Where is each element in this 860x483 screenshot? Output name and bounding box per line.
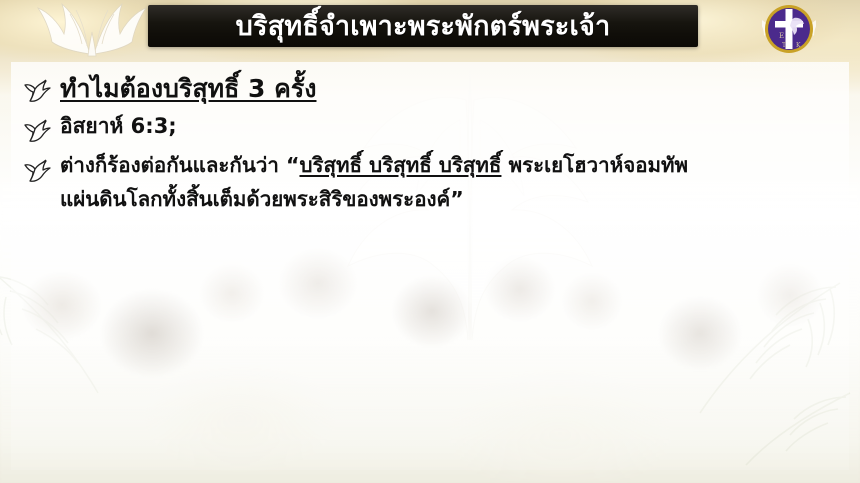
svg-text:K: K xyxy=(796,42,801,49)
svg-text:E: E xyxy=(779,32,784,40)
svg-text:T: T xyxy=(782,42,786,49)
page-title: บริสุทธิ์จำเพาะพระพักตร์พระเจ้า xyxy=(236,13,611,40)
church-cross-dove-logo: E T K xyxy=(762,2,816,56)
bullet-line-2-text: อิสยาห์ 6:3; xyxy=(60,114,177,138)
bullet-line-1-text: ทำไมต้องบริสุทธิ์ 3 ครั้ง xyxy=(60,74,316,103)
bullet-line-3-text-before: ต่างก็ร้องต่อกันและกันว่า “ xyxy=(60,153,299,177)
bullet-line-3-text-after: พระเยโฮวาห์จอมทัพ xyxy=(501,153,688,177)
worshipping-crowd-background xyxy=(0,183,860,483)
presentation-slide: บริสุทธิ์จำเพาะพระพักตร์พระเจ้า E T K xyxy=(0,0,860,483)
dove-bullet-icon xyxy=(22,118,52,144)
slide-body: ทำไมต้องบริสุทธิ์ 3 ครั้ง อิสยาห์ 6:3; xyxy=(0,62,860,212)
slide-title-bar: บริสุทธิ์จำเพาะพระพักตร์พระเจ้า xyxy=(148,5,698,47)
bullet-line-2: อิสยาห์ 6:3; xyxy=(0,114,860,144)
bullet-line-3-text-underlined: บริสุทธิ์ บริสุทธิ์ บริสุทธิ์ xyxy=(299,153,501,177)
angel-wings-icon xyxy=(32,0,152,58)
continuation-line-4: แผ่นดินโลกทั้งสิ้นเต็มด้วยพระสิริของพระอ… xyxy=(0,188,860,212)
slide-header: บริสุทธิ์จำเพาะพระพักตร์พระเจ้า E T K xyxy=(0,0,860,58)
continuation-line-4-text: แผ่นดินโลกทั้งสิ้นเต็มด้วยพระสิริของพระอ… xyxy=(60,188,464,212)
dove-bullet-icon xyxy=(22,158,52,184)
dove-bullet-icon xyxy=(22,78,52,104)
bullet-line-3: ต่างก็ร้องต่อกันและกันว่า “บริสุทธิ์ บริ… xyxy=(0,154,860,184)
bullet-line-3-text: ต่างก็ร้องต่อกันและกันว่า “บริสุทธิ์ บริ… xyxy=(60,154,688,178)
bullet-line-1: ทำไมต้องบริสุทธิ์ 3 ครั้ง xyxy=(0,74,860,104)
